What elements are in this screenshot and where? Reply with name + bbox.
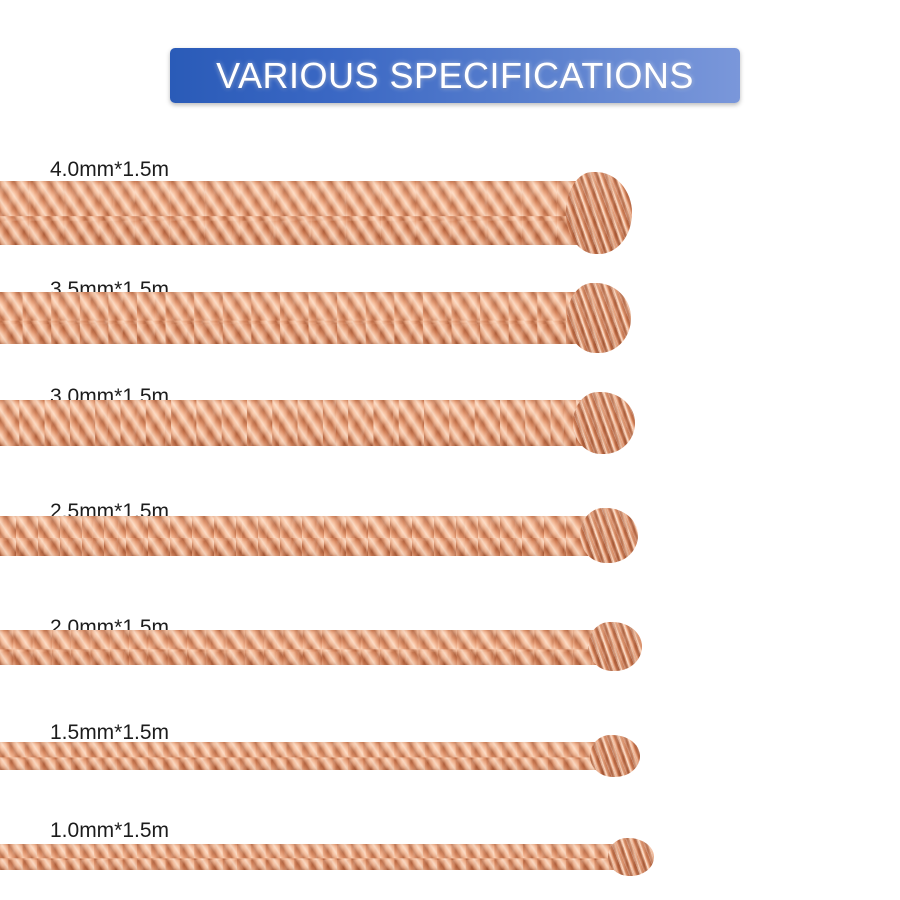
frayed-wire-end [573, 392, 635, 454]
copper-braid-wire [0, 400, 600, 446]
copper-braid-wire [0, 292, 594, 344]
frayed-wire-end [567, 283, 631, 353]
banner-title: VARIOUS SPECIFICATIONS [216, 55, 694, 97]
copper-braid-wire [0, 181, 595, 245]
product-spec-image: VARIOUS SPECIFICATIONS 4.0mm*1.5m3.5mm*1… [0, 0, 900, 900]
copper-braid-wire [0, 742, 611, 770]
spec-size-label: 1.0mm*1.5m [50, 819, 169, 843]
copper-braid-wire [0, 844, 626, 870]
spec-size-label: 4.0mm*1.5m [50, 158, 169, 182]
frayed-wire-end [608, 838, 654, 876]
copper-braid-wire [0, 630, 612, 665]
frayed-wire-end [590, 735, 640, 777]
frayed-wire-end [580, 508, 638, 563]
copper-braid-wire [0, 516, 606, 556]
specifications-banner: VARIOUS SPECIFICATIONS [170, 48, 740, 103]
frayed-wire-end [566, 172, 632, 254]
frayed-wire-end [588, 622, 642, 671]
